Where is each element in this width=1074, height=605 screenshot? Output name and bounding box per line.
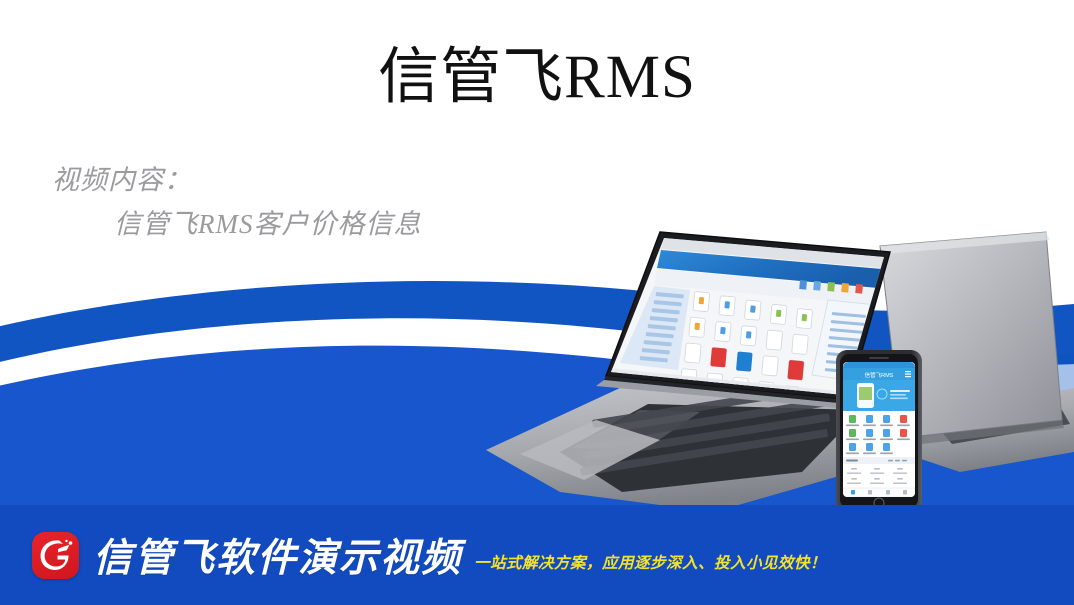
banner-tagline: 一站式解决方案，应用逐步深入、投入小见效快！: [474, 551, 826, 573]
subtitle-label: 视频内容：: [52, 165, 192, 195]
banner-brand-title: 信管飞软件演示视频: [93, 527, 462, 583]
bottom-banner: 信管飞软件演示视频 一站式解决方案，应用逐步深入、投入小见效快！: [0, 505, 1074, 605]
page-title: 信管飞RMS: [0, 46, 1074, 110]
subtitle-content: 信管飞RMS客户价格信息: [52, 202, 421, 246]
xinguanfei-logo-icon: [32, 532, 79, 579]
presentation-slide: 信管飞RMS 视频内容： 信管飞RMS客户价格信息: [0, 0, 1074, 605]
subtitle-block: 视频内容： 信管飞RMS客户价格信息: [52, 158, 421, 246]
